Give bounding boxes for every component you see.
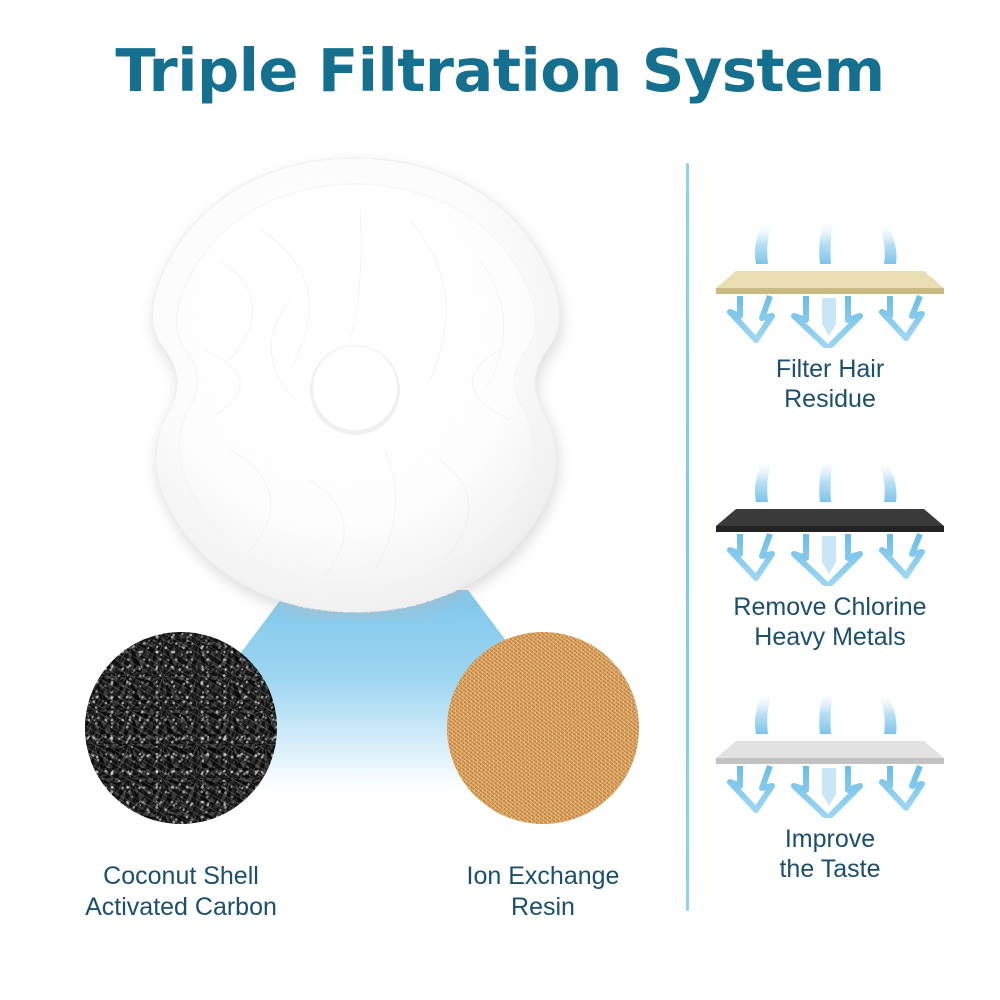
- page-title: Triple Filtration System: [0, 36, 1000, 105]
- media-circle-resin: [447, 632, 639, 824]
- vertical-divider: [686, 163, 689, 911]
- feature-label-line2: Heavy Metals: [700, 622, 960, 652]
- feature-improve-the-taste: Improve the Taste: [700, 686, 960, 884]
- feature-remove-chlorine-heavy-metals: Remove Chlorine Heavy Metals: [700, 454, 960, 652]
- water-through-plate-icon: [700, 216, 960, 348]
- media-caption-resin-line1: Ion Exchange: [393, 861, 693, 892]
- infographic-canvas: Triple Filtration System: [0, 0, 1000, 1000]
- media-caption-carbon-line2: Activated Carbon: [31, 892, 331, 923]
- feature-label-remove-chlorine-heavy-metals: Remove Chlorine Heavy Metals: [700, 592, 960, 652]
- water-through-plate-icon: [700, 686, 960, 818]
- feature-label-line2: Residue: [700, 384, 960, 414]
- feature-label-line1: Improve: [700, 824, 960, 854]
- media-caption-carbon: Coconut Shell Activated Carbon: [31, 861, 331, 923]
- feature-label-line2: the Taste: [700, 854, 960, 884]
- media-circle-carbon: [85, 632, 277, 824]
- feature-label-filter-hair-residue: Filter Hair Residue: [700, 354, 960, 414]
- water-through-plate-icon: [700, 454, 960, 586]
- feature-label-line1: Filter Hair: [700, 354, 960, 384]
- feature-label-line1: Remove Chlorine: [700, 592, 960, 622]
- feature-filter-hair-residue: Filter Hair Residue: [700, 216, 960, 414]
- filter-pad: [110, 150, 630, 620]
- feature-label-improve-the-taste: Improve the Taste: [700, 824, 960, 884]
- media-caption-carbon-line1: Coconut Shell: [31, 861, 331, 892]
- media-caption-resin: Ion Exchange Resin: [393, 861, 693, 923]
- media-caption-resin-line2: Resin: [393, 892, 693, 923]
